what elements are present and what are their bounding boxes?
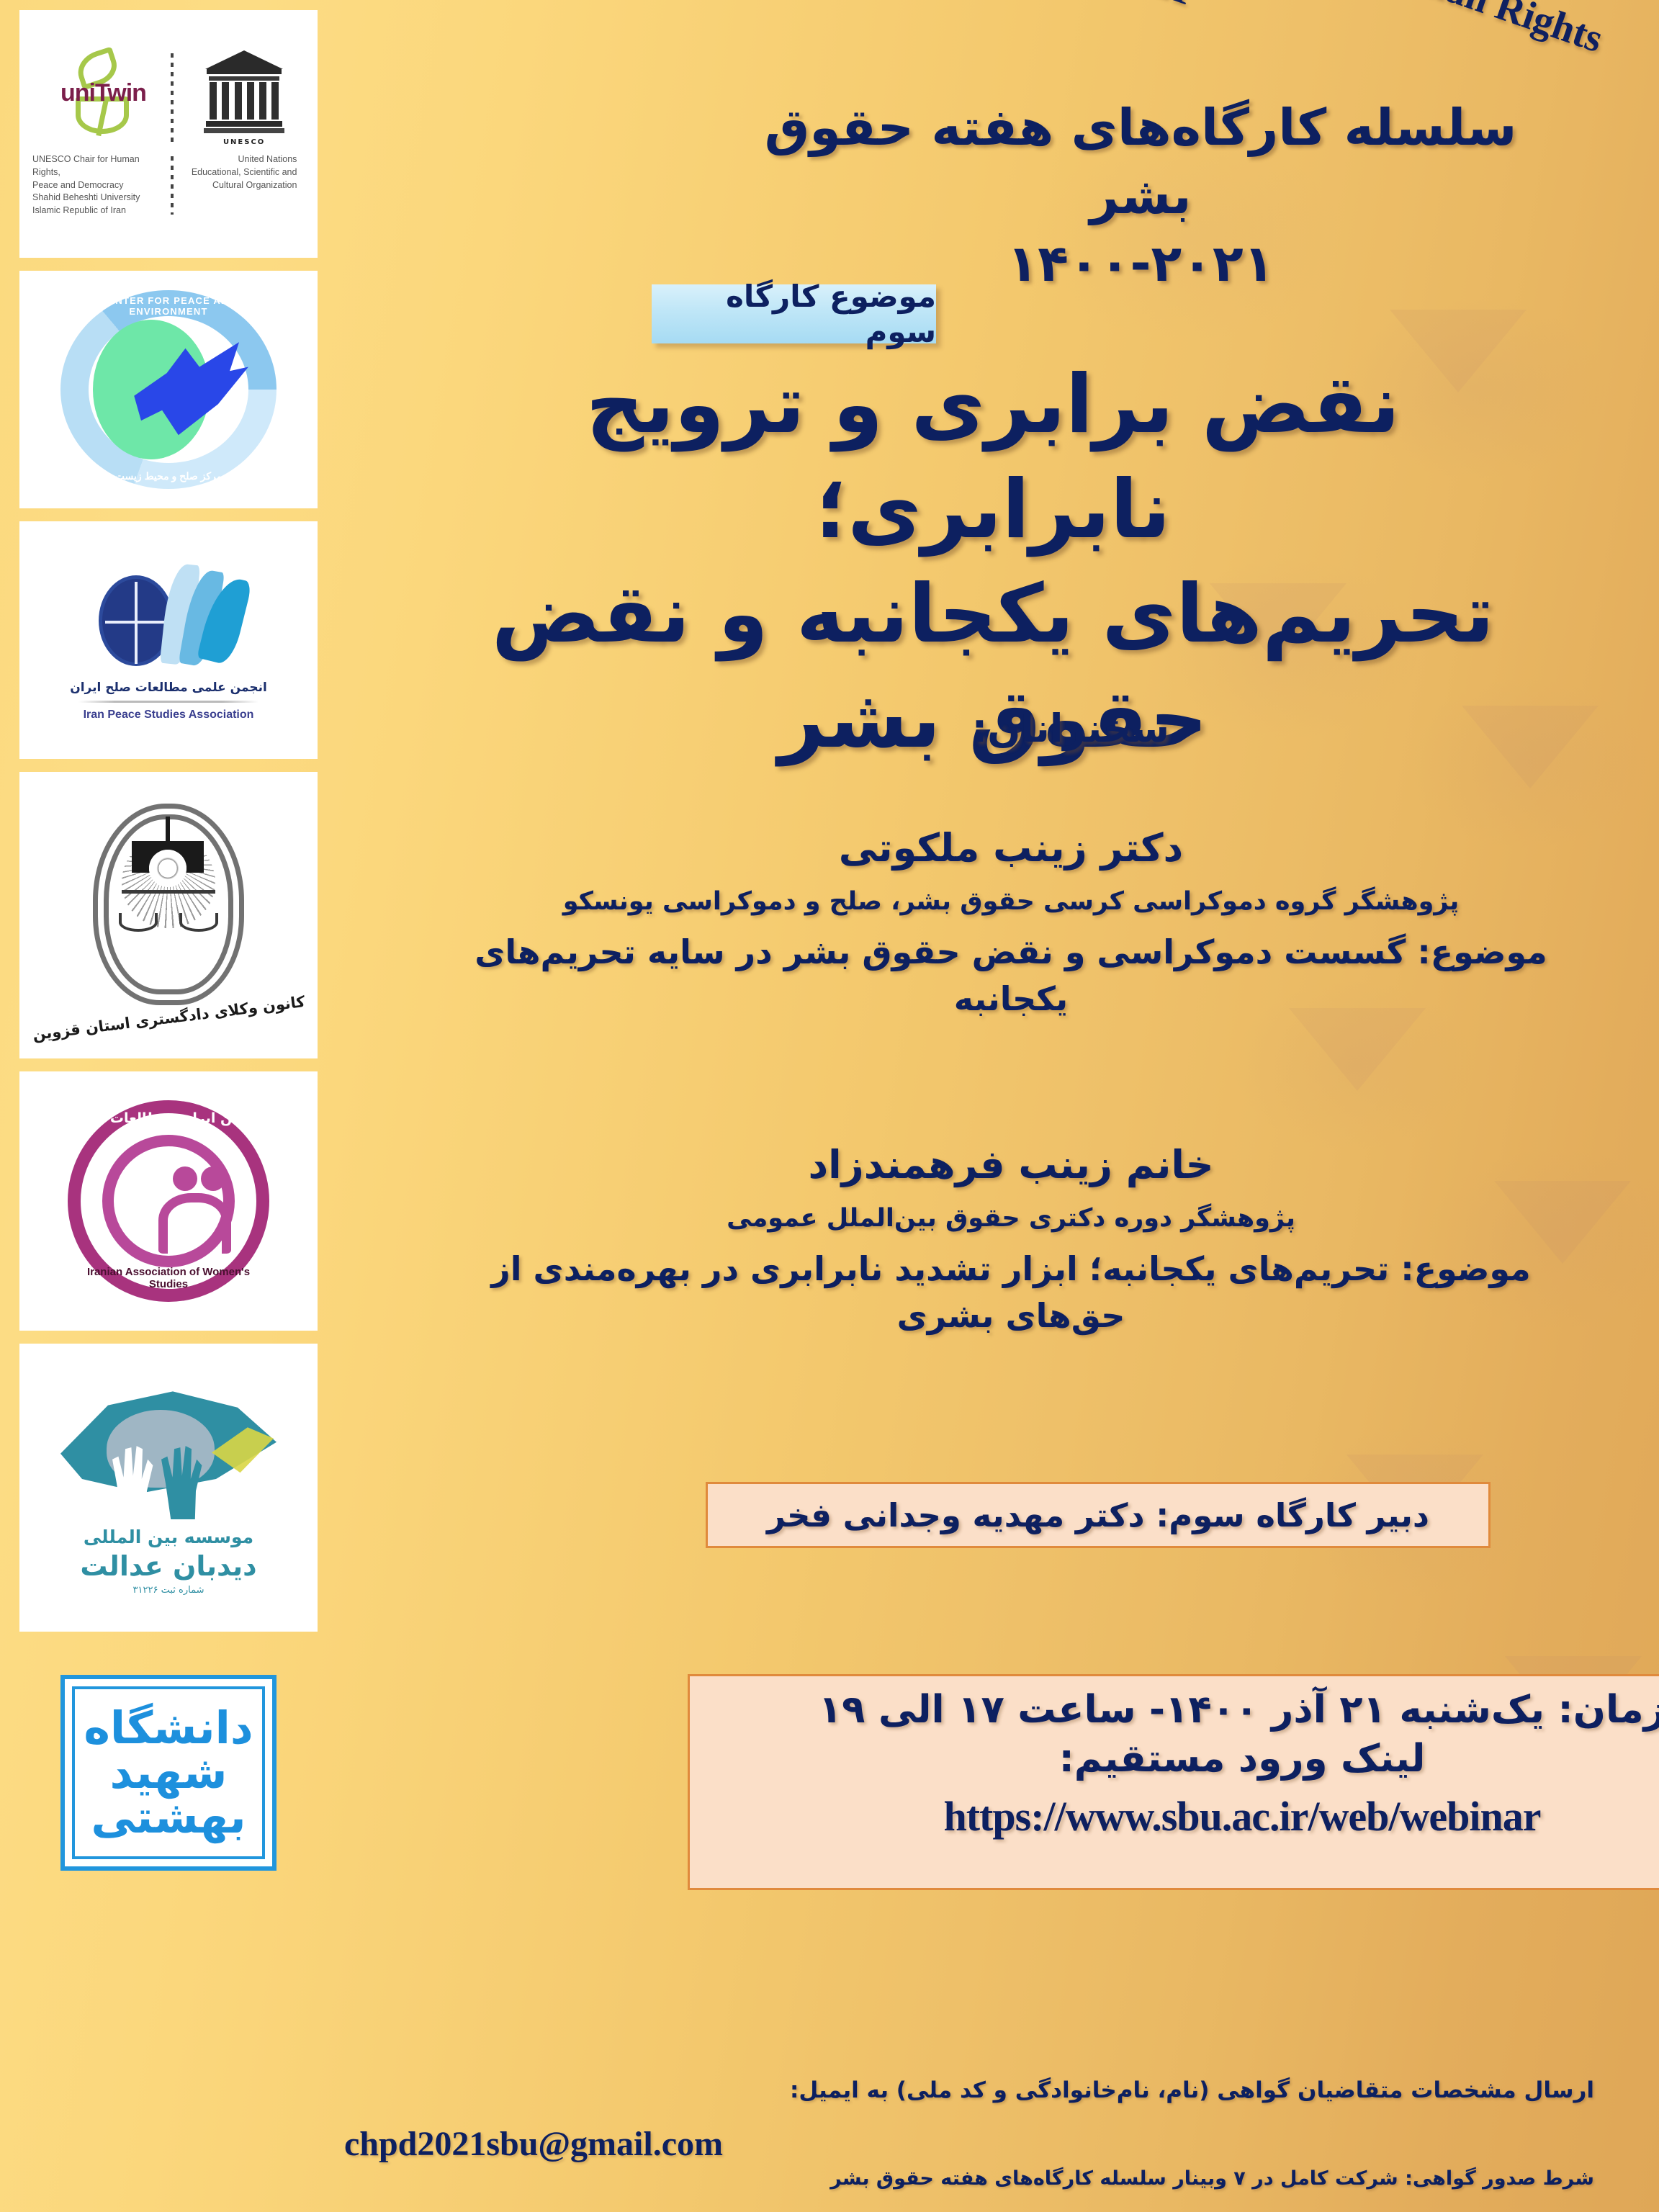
webinar-link[interactable]: https://www.sbu.ac.ir/web/webinar xyxy=(716,1792,1659,1840)
scales-of-justice-icon xyxy=(93,804,244,1005)
dove-globe-icon: CENTER FOR PEACE AND ENVIRONMENT مرکز صل… xyxy=(60,290,276,489)
didban-line2: دیدبان عدالت xyxy=(80,1550,256,1582)
cpe-ring-text-fa: مرکز صلح و محیط زیست xyxy=(60,470,276,482)
logo-iranian-women-studies: انجمن ایرانی مطالعات زنان Iranian Associ… xyxy=(19,1071,318,1331)
event-time: زمان: یک‌شنبه ۲۱ آذر ۱۴۰۰- ساعت ۱۷ الی ۱… xyxy=(716,1686,1659,1734)
speaker-name: دکتر زینب ملکوتی xyxy=(449,821,1573,876)
chair-caption-line2: Peace and Democracy xyxy=(32,179,161,192)
series-title: سلسله کارگاه‌های هفته حقوق بشر ۱۴۰۰-۲۰۲۱ xyxy=(716,94,1565,298)
poster-main-content: International Human Rights Day 2021 سلسل… xyxy=(331,0,1659,2212)
speaker-topic: موضوع: گسست دموکراسی و نقض حقوق بشر در س… xyxy=(449,929,1573,1023)
main-title-line1: نقض برابری و ترویج نابرابری؛ xyxy=(399,353,1587,562)
event-info-box: زمان: یک‌شنبه ۲۱ آذر ۱۴۰۰- ساعت ۱۷ الی ۱… xyxy=(688,1674,1659,1890)
logo-shahid-beheshti-university: دانشگاه شهید بهشتی xyxy=(60,1675,276,1871)
speaker-topic: موضوع: تحریم‌های یکجانبه؛ ابزار تشدید نا… xyxy=(449,1246,1573,1340)
logo-unesco-chair: UNESCO uniTwin United Nations Educationa… xyxy=(19,10,318,258)
certificate-condition-note: شرط صدور گواهی: شرکت کامل در ۷ وبینار سل… xyxy=(514,2167,1594,2190)
cpe-ring-text-en: CENTER FOR PEACE AND ENVIRONMENT xyxy=(60,295,276,317)
speaker-name: خانم زینب فرهمندزاد xyxy=(449,1138,1573,1192)
sbu-line1: دانشگاه xyxy=(84,1706,253,1750)
two-figures-icon: انجمن ایرانی مطالعات زنان Iranian Associ… xyxy=(68,1100,269,1302)
speakers-heading: سخنرانان: xyxy=(972,706,1169,751)
unesco-temple-icon xyxy=(205,50,283,135)
speaker-entry: خانم زینب فرهمندزاد پژوهشگر دوره دکتری ح… xyxy=(449,1138,1573,1340)
series-title-line1: سلسله کارگاه‌های هفته حقوق بشر xyxy=(716,94,1565,230)
workshop-secretary-box: دبیر کارگاه سوم: دکتر مهدیه وجدانی فخر xyxy=(706,1482,1491,1548)
didban-line1: موسسه بین المللی xyxy=(84,1527,253,1547)
unitwin-wordmark: uniTwin xyxy=(47,79,159,107)
logo-didban-edalat: موسسه بین المللی دیدبان عدالت شماره ثبت … xyxy=(19,1344,318,1632)
speaker-affiliation: پژوهشگر دوره دکتری حقوق بین‌الملل عمومی xyxy=(449,1200,1573,1238)
unesco-caption-line2: Educational, Scientific and xyxy=(192,166,297,179)
unesco-caption-line3: Cultural Organization xyxy=(192,179,297,192)
didban-registration-number: شماره ثبت ۳۱۲۲۶ xyxy=(133,1585,204,1596)
globe-dove-icon xyxy=(86,559,251,675)
logo-qazvin-bar-association: کانون وکلای دادگستری استان قزوین xyxy=(19,772,318,1058)
logo-divider xyxy=(171,53,174,143)
chair-caption-line3: Shahid Beheshti University xyxy=(32,192,161,204)
logo-divider-lower xyxy=(171,156,174,215)
workshop-topic-badge: موضوع کارگاه سوم xyxy=(652,284,936,343)
women-studies-name-en: Iranian Association of Women's Studies xyxy=(68,1266,269,1290)
unitwin-logo-icon: uniTwin xyxy=(45,50,161,135)
divider-rule xyxy=(78,701,258,703)
sbu-line3: بهشتی xyxy=(84,1795,253,1840)
unesco-wordmark: UNESCO xyxy=(223,138,265,146)
contact-email[interactable]: chpd2021sbu@gmail.com xyxy=(344,2124,723,2164)
speaker-entry: دکتر زینب ملکوتی پژوهشگر گروه دموکراسی ک… xyxy=(449,821,1573,1023)
speaker-affiliation: پژوهشگر گروه دموکراسی کرسی حقوق بشر، صلح… xyxy=(449,883,1573,921)
unesco-caption-line1: United Nations xyxy=(192,153,297,166)
sbu-line2: شهید xyxy=(84,1750,253,1795)
ipsa-name-en: Iran Peace Studies Association xyxy=(84,709,254,721)
sponsor-logo-column: UNESCO uniTwin United Nations Educationa… xyxy=(17,10,320,1871)
logo-iran-peace-studies: انجمن علمی مطالعات صلح ایران Iran Peace … xyxy=(19,521,318,759)
event-link-label: لینک ورود مستقیم: xyxy=(716,1735,1659,1783)
eye-hands-globe-icon xyxy=(60,1380,276,1524)
chair-caption-line4: Islamic Republic of Iran xyxy=(32,204,161,217)
women-studies-name-fa: انجمن ایرانی مطالعات زنان xyxy=(68,1110,269,1126)
sbu-wordmark: دانشگاه شهید بهشتی xyxy=(84,1706,253,1840)
logo-center-peace-environment: CENTER FOR PEACE AND ENVIRONMENT مرکز صل… xyxy=(19,271,318,508)
certificate-request-note: ارسال مشخصات متقاضیان گواهی (نام، نام‌خا… xyxy=(514,2077,1594,2103)
poster-canvas: UNESCO uniTwin United Nations Educationa… xyxy=(0,0,1659,2212)
ipsa-name-fa: انجمن علمی مطالعات صلح ایران xyxy=(70,680,267,695)
chair-caption-line1: UNESCO Chair for Human Rights, xyxy=(32,153,161,179)
